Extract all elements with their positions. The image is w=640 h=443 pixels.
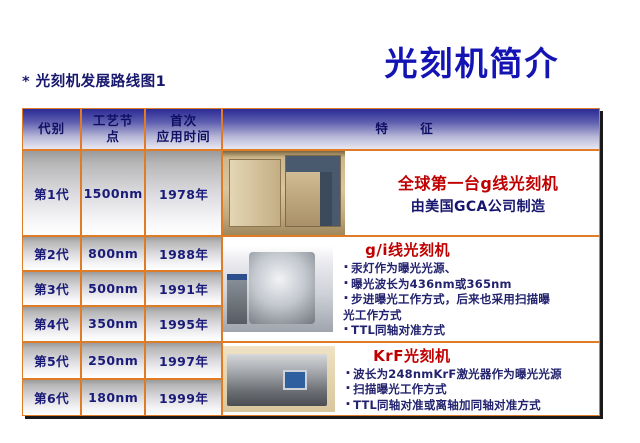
feature-heading-gi-line: g/i线光刻机: [343, 239, 595, 260]
cell-feature-gen2to4: g/i线光刻机 汞灯作为曝光光源、 曝光波长为436nm或365nm 步进曝光工…: [222, 236, 600, 342]
table-body: 第1代 1500nm 1978年 全球第一台g线光刻机 由美国GCA公司制造 第…: [22, 150, 600, 416]
cell-node: 500nm: [81, 271, 145, 306]
cell-node: 180nm: [81, 379, 145, 416]
table-row: 第5代 250nm 1997年 KrF光刻机 波长为248nmKrF激光器作为曝…: [22, 342, 600, 379]
cell-node: 250nm: [81, 342, 145, 379]
column-header-year-line2: 应用时间: [146, 129, 221, 145]
cell-generation: 第4代: [22, 306, 81, 341]
cell-generation: 第6代: [22, 379, 81, 416]
feature-bullets-gi-line: 汞灯作为曝光光源、 曝光波长为436nm或365nm 步进曝光工作方式，后来也采…: [343, 261, 595, 339]
cell-year: 1995年: [145, 306, 222, 341]
table-header: 代别 工艺节 点 首次 应用时间 特 征: [22, 108, 600, 150]
column-header-feature: 特 征: [222, 108, 600, 150]
list-item: 步进曝光工作方式，后来也采用扫描曝: [343, 292, 595, 308]
slide-subtitle: * 光刻机发展路线图1: [22, 70, 166, 91]
table-row: 第2代 800nm 1988年 g/i线光刻机 汞灯作为曝光光源、 曝光波长为4…: [22, 236, 600, 271]
cell-generation: 第2代: [22, 236, 81, 271]
cell-node: 1500nm: [81, 150, 145, 236]
column-header-node-line2: 点: [82, 129, 144, 145]
cell-year: 1997年: [145, 342, 222, 379]
list-item: 曝光波长为436nm或365nm: [343, 277, 595, 293]
feature-subheading-gen1: 由美国GCA公司制造: [355, 196, 595, 216]
column-header-year-line1: 首次: [146, 113, 221, 129]
slide-canvas: 光刻机简介 * 光刻机发展路线图1 代别 工艺节 点 首次 应用时间 特 征 第…: [0, 0, 640, 443]
feature-heading-krf: KrF光刻机: [345, 345, 595, 366]
cell-node: 350nm: [81, 306, 145, 341]
cell-generation: 第1代: [22, 150, 81, 236]
cell-year: 1991年: [145, 271, 222, 306]
page-title: 光刻机简介: [322, 47, 622, 82]
cell-feature-gen1: 全球第一台g线光刻机 由美国GCA公司制造: [222, 150, 600, 236]
table-row: 第1代 1500nm 1978年 全球第一台g线光刻机 由美国GCA公司制造: [22, 150, 600, 236]
cell-generation: 第5代: [22, 342, 81, 379]
lithography-machine-photo-1: [223, 151, 345, 235]
cell-year: 1978年: [145, 150, 222, 236]
column-header-year: 首次 应用时间: [145, 108, 222, 150]
lithography-machine-photo-2: [223, 246, 333, 332]
lithography-roadmap-table: 代别 工艺节 点 首次 应用时间 特 征 第1代 1500nm 1978年: [22, 108, 600, 416]
cell-node: 800nm: [81, 236, 145, 271]
list-item: 汞灯作为曝光光源、: [343, 261, 595, 277]
cell-generation: 第3代: [22, 271, 81, 306]
column-header-generation: 代别: [22, 108, 81, 150]
list-item: 扫描曝光工作方式: [345, 382, 595, 398]
list-item: TTL同轴对准或离轴加同轴对准方式: [345, 398, 595, 414]
lithography-machine-photo-3: [223, 346, 335, 412]
cell-feature-gen5to6: KrF光刻机 波长为248nmKrF激光器作为曝光光源 扫描曝光工作方式 TTL…: [222, 342, 600, 417]
list-item-continuation: 光工作方式: [343, 308, 595, 324]
feature-bullets-krf: 波长为248nmKrF激光器作为曝光光源 扫描曝光工作方式 TTL同轴对准或离轴…: [345, 367, 595, 414]
list-item: TTL同轴对准方式: [343, 323, 595, 339]
list-item: 波长为248nmKrF激光器作为曝光光源: [345, 367, 595, 383]
table-header-row: 代别 工艺节 点 首次 应用时间 特 征: [22, 108, 600, 150]
column-header-node-line1: 工艺节: [82, 113, 144, 129]
cell-year: 1988年: [145, 236, 222, 271]
cell-year: 1999年: [145, 379, 222, 416]
feature-heading-gen1: 全球第一台g线光刻机: [355, 170, 595, 194]
column-header-node: 工艺节 点: [81, 108, 145, 150]
